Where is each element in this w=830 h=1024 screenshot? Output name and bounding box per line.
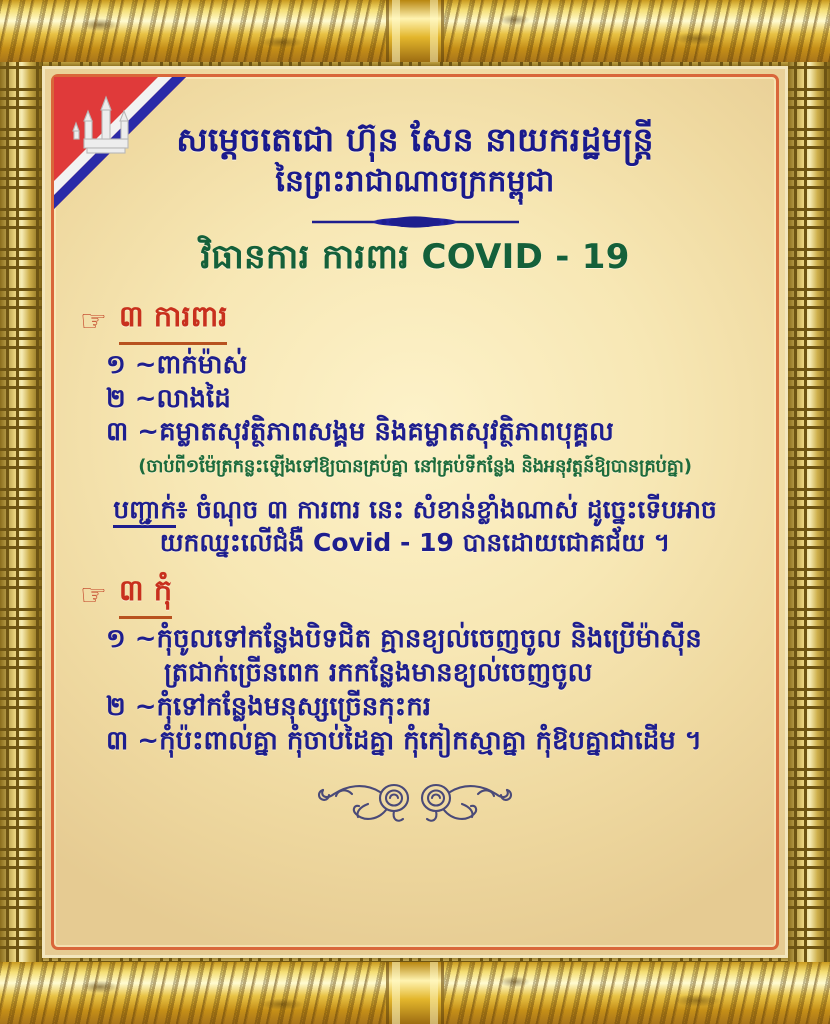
- item-text: លាងដៃ: [157, 384, 231, 414]
- protect-note: (ចាប់ពី១ម៉ែត្រកន្លះឡើងទៅឱ្យបានគ្រប់គ្នា …: [72, 454, 758, 481]
- gold-rod-bottom: [0, 962, 830, 1024]
- meander-border-right: [788, 48, 830, 976]
- item-number: ៣ ~: [106, 416, 159, 450]
- item-text-cont: ត្រជាក់ច្រើនពេក រកកន្លែងមានខ្យល់ចេញចូល: [106, 657, 768, 691]
- item-text: គម្លាតសុវត្ថិភាពសង្គម និងគម្លាតសុវត្ថិភា…: [159, 417, 614, 447]
- item-number: ៣ ~: [106, 725, 159, 759]
- parchment-panel: សម្តេចតេជោ ហ៊ុន សែន នាយករដ្ឋមន្ត្រី នៃព្…: [42, 66, 788, 958]
- item-text: កុំចូលទៅកន្លែងបិទជិត គ្មានខ្យល់ចេញចូល និ…: [157, 624, 702, 654]
- section-header-dont: ☞ ៣ កុំ: [62, 573, 768, 619]
- pointing-hand-icon: ☞: [80, 307, 107, 337]
- list-item: ២ ~កុំទៅកន្លែងមនុស្សច្រើនកុះករ: [62, 691, 768, 725]
- floral-flourish-icon: [290, 774, 540, 824]
- poster-root: សម្តេចតេជោ ហ៊ុន សែន នាយករដ្ឋមន្ត្រី នៃព្…: [0, 0, 830, 1024]
- list-item: ១ ~ពាក់ម៉ាស់: [62, 349, 768, 383]
- gold-rod-top: [0, 0, 830, 62]
- list-item: ២ ~លាងដៃ: [62, 383, 768, 417]
- main-heading: វិធានការ ការពារ COVID - 19: [62, 235, 768, 285]
- item-text: កុំប៉ះពាល់គ្នា កុំចាប់ដៃគ្នា កុំកៀកស្មាគ…: [159, 726, 702, 756]
- gold-rod-collar-top: [386, 0, 444, 62]
- item-number: ២ ~: [106, 383, 157, 417]
- list-item: ១ ~កុំចូលទៅកន្លែងបិទជិត គ្មានខ្យល់ចេញចូល…: [62, 623, 768, 691]
- gold-rod-collar-bottom: [386, 962, 444, 1024]
- protect-list: ១ ~ពាក់ម៉ាស់ ២ ~លាងដៃ ៣ ~គម្លាតសុវត្ថិភា…: [62, 349, 768, 450]
- pointing-hand-icon: ☞: [80, 581, 107, 611]
- item-number: ២ ~: [106, 691, 157, 725]
- meander-border-left: [0, 48, 42, 976]
- list-item: ៣ ~កុំប៉ះពាល់គ្នា កុំចាប់ដៃគ្នា កុំកៀកស្…: [62, 725, 768, 759]
- section-label-protect: ៣ ការពារ: [119, 299, 228, 345]
- item-number: ១ ~: [106, 349, 157, 383]
- dont-list: ១ ~កុំចូលទៅកន្លែងបិទជិត គ្មានខ្យល់ចេញចូល…: [62, 623, 768, 758]
- section-header-protect: ☞ ៣ ការពារ: [62, 299, 768, 345]
- item-text: ពាក់ម៉ាស់: [157, 350, 248, 380]
- list-item: ៣ ~គម្លាតសុវត្ថិភាពសង្គម និងគម្លាតសុវត្ថ…: [62, 416, 768, 450]
- section-label-dont: ៣ កុំ: [119, 573, 172, 619]
- confirm-line-2: យកឈ្នះលើជំងឺ Covid - 19 បានដោយជោគជ័យ ។: [68, 526, 762, 559]
- page-title: សម្តេចតេជោ ហ៊ុន សែន នាយករដ្ឋមន្ត្រី នៃព្…: [62, 120, 768, 201]
- item-text: កុំទៅកន្លែងមនុស្សច្រើនកុះករ: [157, 692, 431, 722]
- confirm-colon: ៖: [176, 495, 187, 524]
- spindle-divider-icon: [308, 215, 523, 229]
- confirm-paragraph: បញ្ជាក់៖ ចំណុច ៣ ការពារ នេះ សំខាន់ខ្លាំង…: [68, 493, 762, 559]
- confirm-line-1: ចំណុច ៣ ការពារ នេះ សំខាន់ខ្លាំងណាស់ ដូច្…: [196, 495, 717, 524]
- title-line-2: នៃព្រះរាជាណាចក្រកម្ពុជា: [62, 164, 768, 201]
- title-line-1: សម្តេចតេជោ ហ៊ុន សែន នាយករដ្ឋមន្ត្រី: [62, 120, 768, 160]
- poster-content: សម្តេចតេជោ ហ៊ុន សែន នាយករដ្ឋមន្ត្រី នៃព្…: [42, 66, 788, 958]
- confirm-label: បញ្ជាក់: [113, 495, 176, 528]
- item-number: ១ ~: [106, 623, 157, 657]
